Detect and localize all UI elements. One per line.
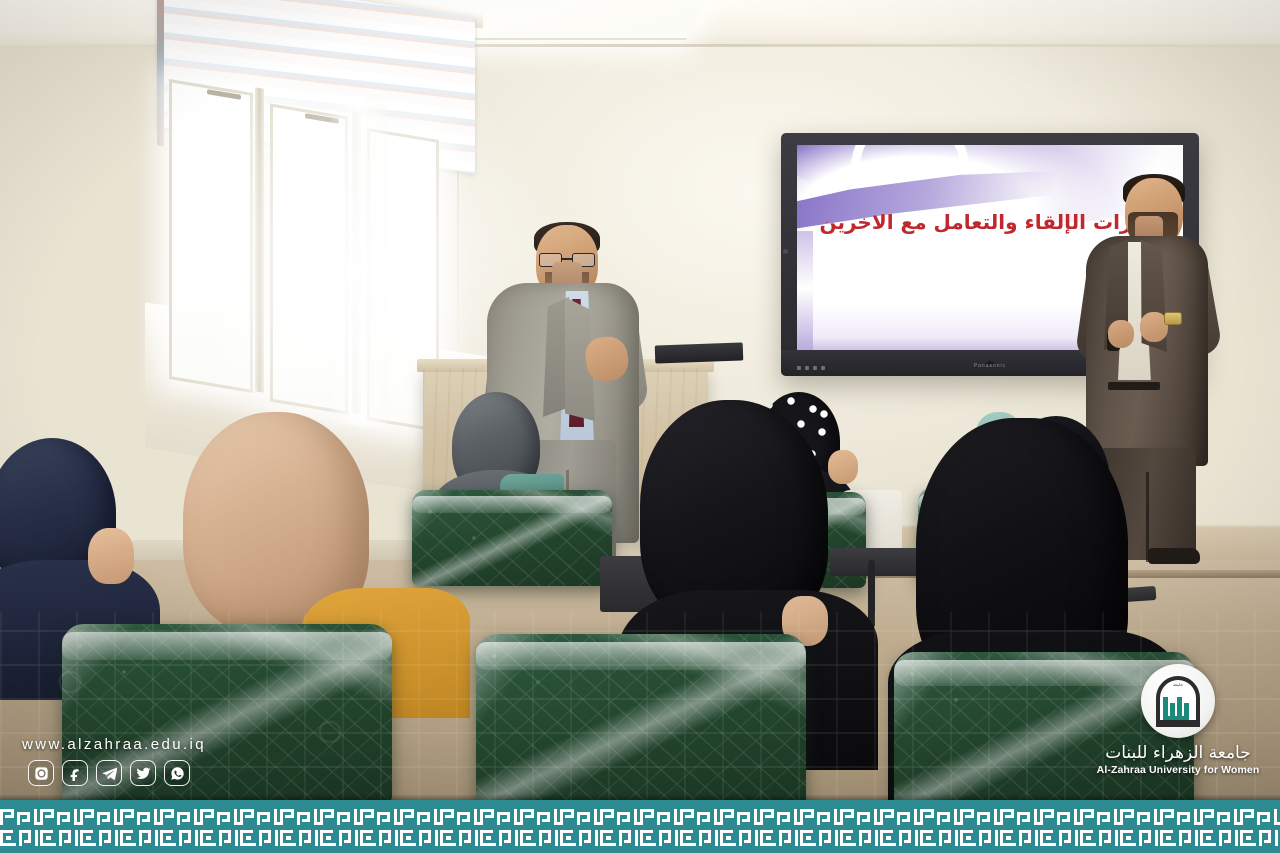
kufic-glyph [520,830,560,846]
university-name-ar: جامعة الزهراء للبنات [1090,744,1266,763]
photo-canvas: مهارات الإلقاء والتعامل مع الاخرين Panas… [0,0,1280,853]
social-links-row[interactable] [28,760,190,786]
kufic-glyph [160,830,200,846]
window-group [145,0,465,470]
speaker-screen-shoe [1148,548,1200,564]
kufic-glyph [1240,809,1280,825]
kufic-glyph [520,809,560,825]
kufic-glyph [0,809,40,825]
facebook-icon[interactable] [62,760,88,786]
display-ir-sensor [783,249,788,254]
university-logo-icon: جامعة [1141,664,1215,738]
speaker-screen-suit [1086,236,1208,466]
kufic-row-bottom [0,830,1280,846]
logo-arch-base [1156,720,1200,727]
kufic-glyph [160,809,200,825]
chair-front-center [476,634,806,810]
kufic-glyph [1000,809,1040,825]
kufic-glyph [1240,830,1280,846]
kufic-glyph [680,830,720,846]
kufic-glyph [720,830,760,846]
blind-side-edge [157,0,164,147]
kufic-glyph [200,830,240,846]
instagram-icon[interactable] [28,760,54,786]
kufic-glyph [720,809,760,825]
telegram-icon[interactable] [96,760,122,786]
kufic-glyph [600,809,640,825]
wristwatch [1164,312,1182,325]
kufic-glyph [600,830,640,846]
kufic-glyph [200,809,240,825]
kufic-glyph [920,830,960,846]
kufic-glyph [480,830,520,846]
speaker-screen-left-hand [1108,320,1134,348]
kufic-glyph [440,809,480,825]
kufic-glyph [1160,809,1200,825]
kufic-glyph [840,830,880,846]
kufic-glyph [1080,830,1120,846]
twitter-icon[interactable] [130,760,156,786]
display-brand-label: Panasonic [974,363,1006,369]
whatsapp-icon[interactable] [164,760,190,786]
kufic-glyph [560,830,600,846]
desk-leg-right [868,560,875,628]
kufic-glyph [760,830,800,846]
university-brand-block: جامعة جامعة الزهراء للبنات Al-Zahraa Uni… [1090,664,1266,776]
kufic-glyph [280,809,320,825]
website-url[interactable]: www.alzahraa.edu.iq [22,736,206,753]
kufic-glyph [1040,809,1080,825]
slide-title-text: مهارات الإلقاء والتعامل مع الاخرين [811,209,1173,235]
kufic-glyph [80,830,120,846]
kufic-glyph [800,809,840,825]
kufic-glyph [960,809,1000,825]
audience-raised-hand [828,450,858,484]
kufic-glyph [80,809,120,825]
window-pane-1 [169,79,253,393]
kufic-row-top [0,809,1280,825]
university-name-en: Al-Zahraa University for Women [1090,764,1266,776]
kufic-glyph [1200,830,1240,846]
kufic-glyph [360,830,400,846]
kufic-glyph [400,830,440,846]
display-control-keys[interactable] [797,366,825,370]
kufic-glyph [40,809,80,825]
kufic-glyph [320,809,360,825]
kufic-glyph [280,830,320,846]
lecture-hall-scene: مهارات الإلقاء والتعامل مع الاخرين Panas… [0,0,1280,853]
kufic-glyph [480,809,520,825]
kufic-glyph [960,830,1000,846]
logo-arch-top-script: جامعة [1173,682,1183,687]
kufic-glyph [0,830,40,846]
kufic-glyph [880,809,920,825]
kufic-glyph [1200,809,1240,825]
kufic-glyph [560,809,600,825]
kufic-glyph [1000,830,1040,846]
kufic-glyph [1160,830,1200,846]
audience-hand-navy [88,528,134,584]
speaker-screen-belt [1108,382,1160,390]
kufic-glyph [120,809,160,825]
window-mullion-1 [255,87,264,393]
kufic-glyph [400,809,440,825]
kufic-glyph [680,809,720,825]
logo-kufic-mark [1163,697,1193,721]
kufic-glyph [240,830,280,846]
kufic-glyph [1040,830,1080,846]
kufic-glyph [1080,809,1120,825]
kufic-glyph [1120,809,1160,825]
kufic-glyph [360,809,400,825]
podium-laptop [655,342,744,363]
kufic-glyph [640,830,680,846]
logo-arch-shape: جامعة [1156,676,1200,726]
kufic-glyph [800,830,840,846]
kufic-glyph [440,830,480,846]
chair-back-left [412,490,612,586]
sheer-curtain [331,92,387,431]
kufic-glyph [760,809,800,825]
kufic-glyph [920,809,960,825]
kufic-glyph [840,809,880,825]
kufic-decorative-band [0,800,1280,853]
kufic-glyph [320,830,360,846]
kufic-glyph [120,830,160,846]
kufic-glyph [1120,830,1160,846]
kufic-glyph [880,830,920,846]
kufic-glyph [40,830,80,846]
kufic-glyph [240,809,280,825]
kufic-glyph [640,809,680,825]
